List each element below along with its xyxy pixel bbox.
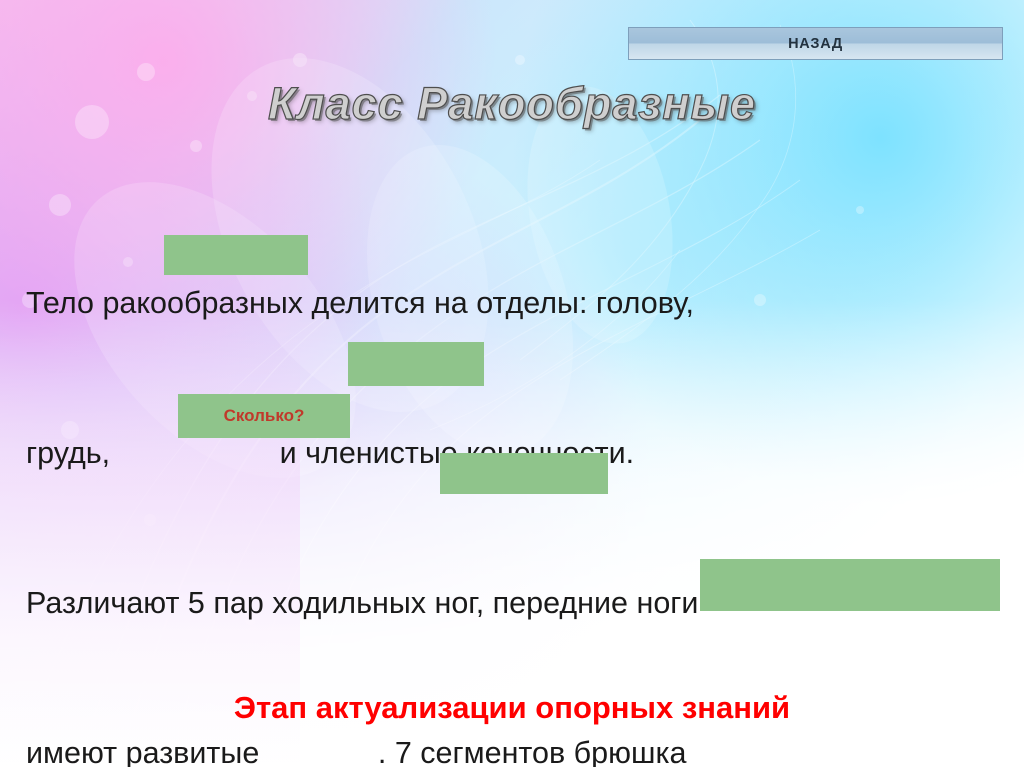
body-line: имеют развитые . 7 сегментов брюшка — [26, 728, 986, 767]
back-button[interactable]: НАЗАД — [628, 27, 1003, 60]
page-title: Класс Ракообразные — [0, 78, 1024, 130]
answer-mask-block[interactable] — [440, 453, 608, 494]
answer-mask-block[interactable] — [164, 235, 308, 275]
answer-mask-block[interactable] — [348, 342, 484, 386]
footer-caption: Этап актуализации опорных знаний — [0, 690, 1024, 726]
body-line: Тело ракообразных делится на отделы: гол… — [26, 278, 986, 328]
hint-label[interactable]: Сколько? — [178, 394, 350, 438]
answer-mask-block[interactable] — [700, 559, 1000, 611]
back-button-label: НАЗАД — [788, 36, 843, 52]
presentation-slide: НАЗАД Класс Ракообразные Тело ракообразн… — [0, 0, 1024, 767]
